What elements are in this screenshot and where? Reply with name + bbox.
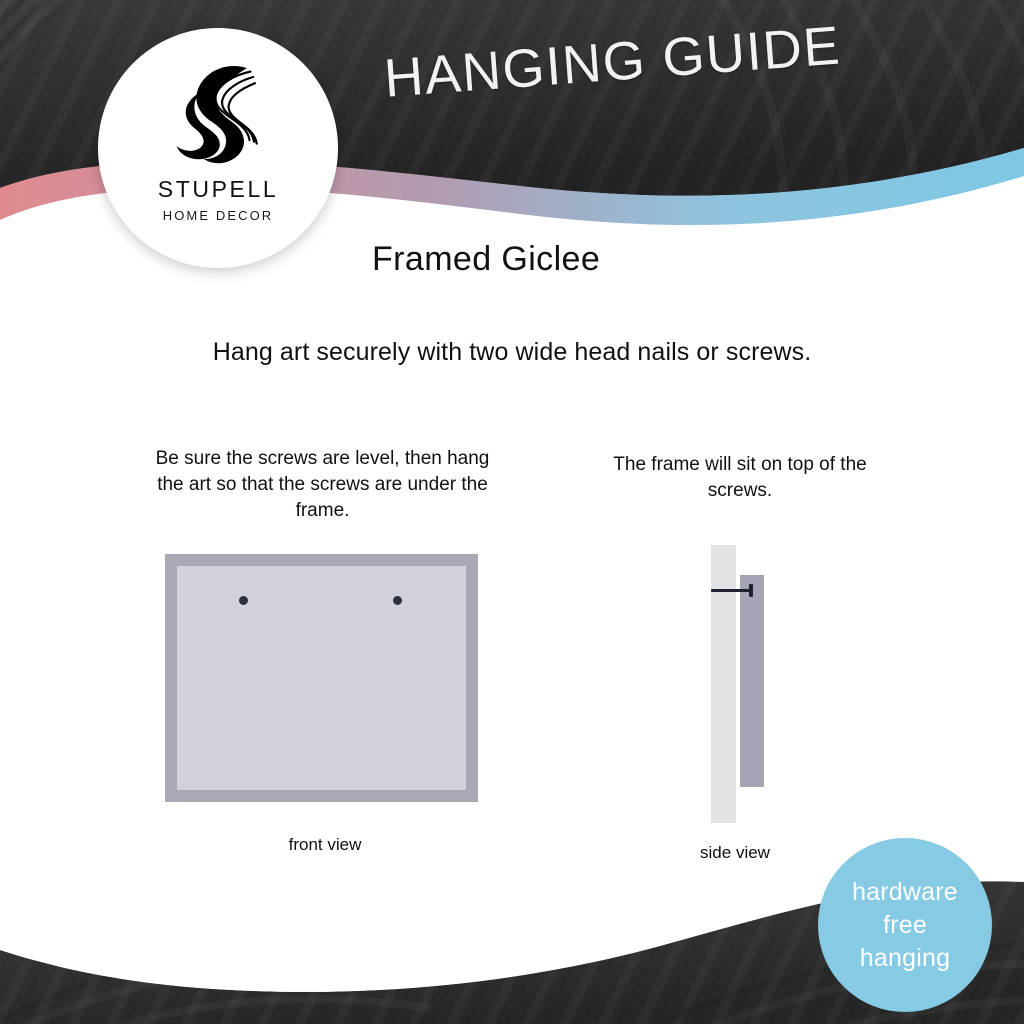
badge-line-3: hanging (860, 942, 950, 975)
front-view-artwork (177, 566, 466, 790)
screw-dot-right (393, 596, 402, 605)
hanging-guide-page: HANGING GUIDE STUPELL HOME DECOR Framed … (0, 0, 1024, 1024)
front-view-diagram (165, 554, 478, 802)
nail-icon (711, 587, 754, 593)
front-view-label: front view (180, 835, 470, 855)
badge-line-2: free (883, 909, 927, 942)
stupell-swan-logo-icon (164, 54, 272, 172)
brand-tagline: HOME DECOR (163, 208, 274, 223)
page-title: HANGING GUIDE (382, 14, 843, 109)
side-view-caption: The frame will sit on top of the screws. (590, 452, 890, 504)
lead-instruction-text: Hang art securely with two wide head nai… (213, 338, 812, 367)
nail-shank (711, 589, 752, 592)
front-view-caption: Be sure the screws are level, then hang … (150, 446, 495, 524)
nail-head (749, 584, 753, 597)
brand-name: STUPELL (158, 176, 278, 203)
badge-line-1: hardware (852, 876, 958, 909)
side-view-frame (740, 575, 764, 787)
product-subtitle: Framed Giclee (372, 240, 600, 279)
lead-instruction: Hang art securely with two wide head nai… (0, 338, 1024, 367)
side-view-diagram (700, 540, 810, 830)
side-view-label: side view (610, 843, 860, 863)
screw-dot-left (239, 596, 248, 605)
brand-logo-badge: STUPELL HOME DECOR (98, 28, 338, 268)
hardware-free-hanging-badge: hardware free hanging (818, 838, 992, 1012)
